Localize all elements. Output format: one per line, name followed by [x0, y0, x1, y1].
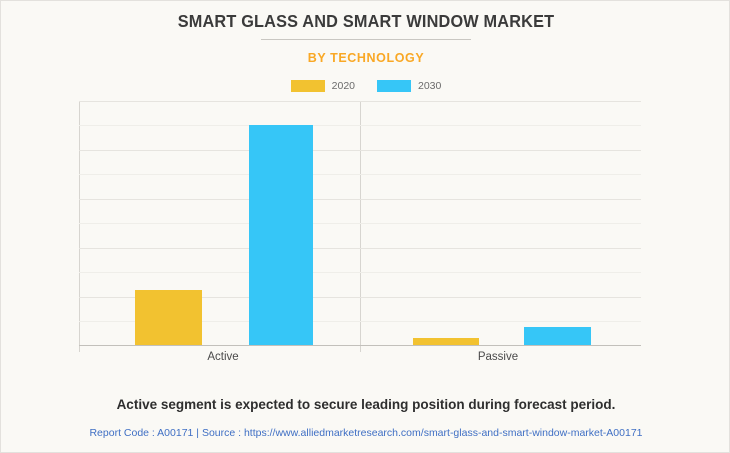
- x-axis-label-active: Active: [163, 351, 283, 363]
- chart-caption: Active segment is expected to secure lea…: [1, 397, 730, 412]
- gridline: [79, 223, 641, 224]
- x-axis-line: [79, 345, 641, 346]
- page-title: SMART GLASS AND SMART WINDOW MARKET: [27, 11, 706, 32]
- gridline: [79, 150, 641, 151]
- y-axis-line: [79, 101, 80, 352]
- legend-swatch-2030: [377, 80, 411, 92]
- gridline: [79, 199, 641, 200]
- chart-canvas: SMART GLASS AND SMART WINDOW MARKET BY T…: [0, 0, 730, 453]
- legend-label-2020: 2020: [332, 80, 355, 92]
- chart-legend: 2020 2030: [1, 80, 730, 92]
- bar-active-2020[interactable]: [135, 290, 202, 346]
- legend-item-2030[interactable]: 2030: [377, 80, 441, 92]
- gridline: [79, 272, 641, 273]
- legend-swatch-2020: [291, 80, 325, 92]
- bar-active-2030[interactable]: [249, 125, 313, 346]
- bar-passive-2030[interactable]: [524, 327, 591, 346]
- chart-subtitle: BY TECHNOLOGY: [1, 51, 730, 65]
- category-divider-line: [360, 101, 361, 352]
- plot-area: [79, 101, 641, 346]
- gridline: [79, 125, 641, 126]
- title-divider: [261, 39, 471, 40]
- gridline: [79, 174, 641, 175]
- legend-item-2020[interactable]: 2020: [291, 80, 355, 92]
- x-axis-label-passive: Passive: [438, 351, 558, 363]
- legend-label-2030: 2030: [418, 80, 441, 92]
- gridline: [79, 101, 641, 102]
- report-source-note[interactable]: Report Code : A00171 | Source : https://…: [1, 427, 730, 439]
- gridline: [79, 248, 641, 249]
